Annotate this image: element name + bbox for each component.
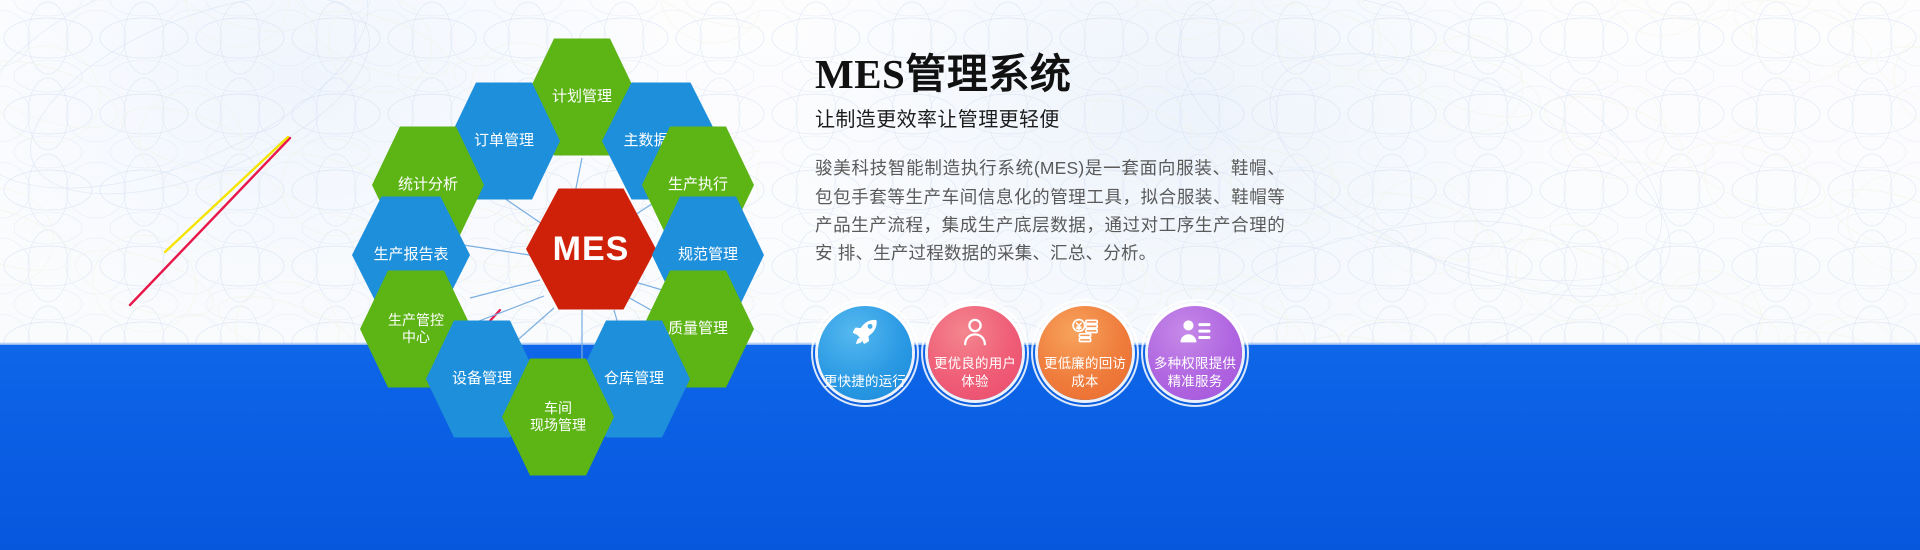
hex-label: 规范管理 — [674, 246, 742, 264]
hex-label: 生产报告表 — [369, 246, 452, 264]
banner-root: MES 计划管理 订单管理 主数据管理 统计分析 生产执行 生产报告表 规范管理… — [0, 0, 1920, 550]
feature-label: 更低廉的回访 成本 — [1039, 355, 1131, 390]
user-list-icon — [1148, 317, 1242, 347]
feature-circle-faster-operation[interactable]: 更快捷的运行 — [818, 306, 912, 400]
feature-circle-list: 更快捷的运行 更优良的用户 体验 — [818, 306, 1242, 400]
user-icon — [928, 317, 1022, 347]
hex-label: 仓库管理 — [600, 370, 668, 388]
page-description: 骏美科技智能制造执行系统(MES)是一套面向服装、鞋帽、包包手套等生产车间信息化… — [815, 154, 1285, 267]
hex-label: 质量管理 — [664, 320, 732, 338]
feature-label: 更快捷的运行 — [819, 373, 911, 390]
hex-label: 车间 现场管理 — [526, 400, 590, 433]
hex-label: 统计分析 — [394, 176, 462, 194]
feature-circle-permissions[interactable]: 多种权限提供 精准服务 — [1148, 306, 1242, 400]
hex-label: 计划管理 — [548, 88, 616, 106]
mes-hexagon-diagram: MES 计划管理 订单管理 主数据管理 统计分析 生产执行 生产报告表 规范管理… — [330, 18, 800, 428]
circle-ring — [811, 299, 919, 407]
page-subtitle: 让制造更效率让管理更轻便 — [815, 103, 1285, 132]
feature-label: 多种权限提供 精准服务 — [1149, 355, 1241, 390]
feature-circle-better-ux[interactable]: 更优良的用户 体验 — [928, 306, 1022, 400]
rocket-icon — [818, 317, 912, 347]
feature-label: 更优良的用户 体验 — [929, 355, 1021, 390]
hex-label: 生产执行 — [664, 176, 732, 194]
circle-ring — [921, 299, 1029, 407]
page-title: MES管理系统 — [815, 52, 1285, 96]
hex-label: 订单管理 — [470, 132, 538, 150]
circle-ring — [1141, 299, 1249, 407]
feature-circle-lower-cost[interactable]: 更低廉的回访 成本 — [1038, 306, 1132, 400]
circle-ring — [1031, 299, 1139, 407]
hex-core-label: MES — [549, 229, 634, 269]
money-stack-icon — [1038, 317, 1132, 347]
banner-text-block: MES管理系统 让制造更效率让管理更轻便 骏美科技智能制造执行系统(MES)是一… — [815, 52, 1285, 268]
hex-label: 设备管理 — [448, 370, 516, 388]
hex-label: 生产管控 中心 — [384, 312, 448, 345]
